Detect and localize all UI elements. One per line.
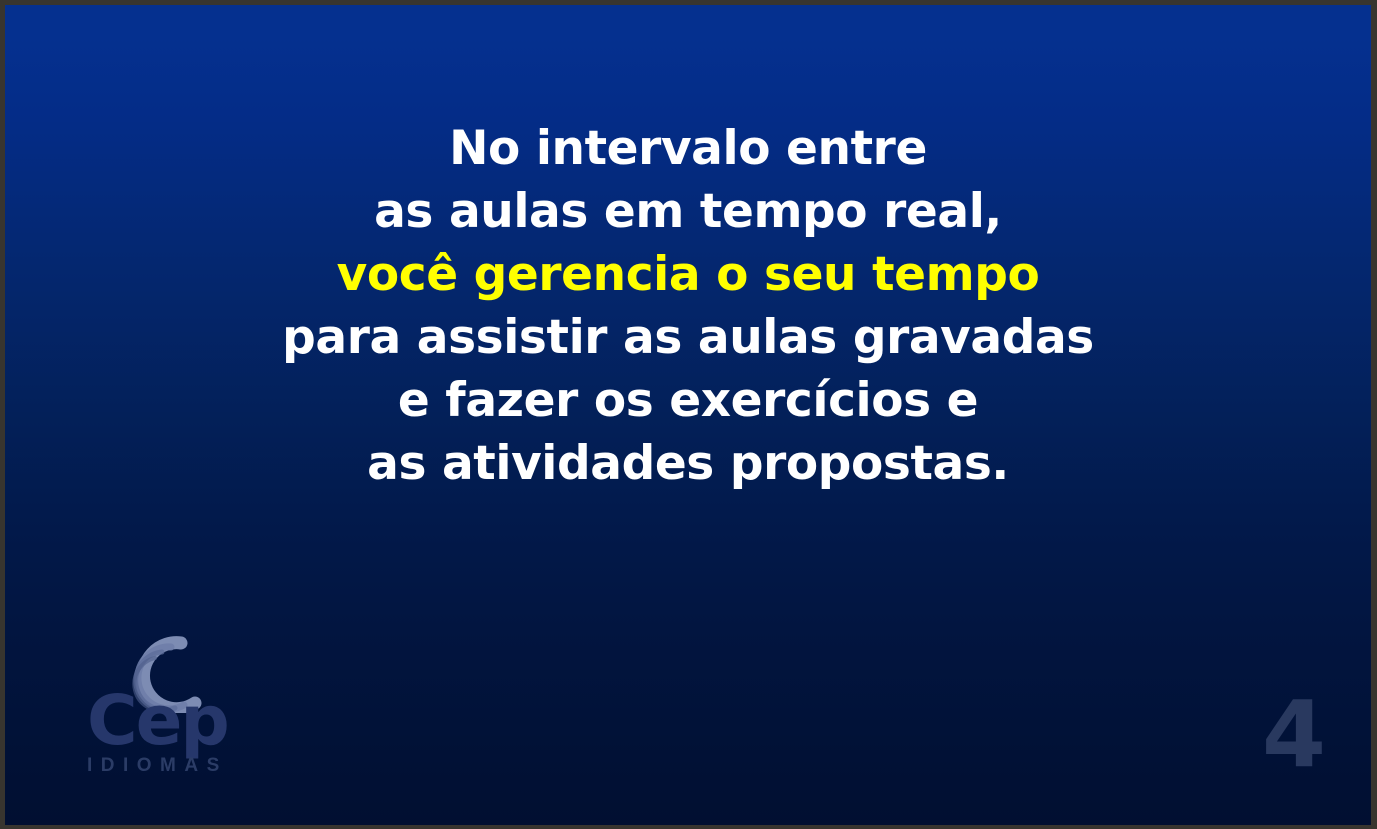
message-line-4: para assistir as aulas gravadas: [5, 306, 1371, 369]
logo-wordmark: Cep: [83, 685, 263, 757]
message-line-2: as aulas em tempo real,: [5, 180, 1371, 243]
message-line-5: e fazer os exercícios e: [5, 369, 1371, 432]
brand-logo: Cep IDIOMAS: [83, 633, 263, 783]
message-line-6: as atividades propostas.: [5, 432, 1371, 495]
slide-message: No intervalo entre as aulas em tempo rea…: [5, 117, 1371, 495]
message-line-3-highlight: você gerencia o seu tempo: [5, 243, 1371, 306]
page-number: 4: [1262, 689, 1325, 781]
slide-canvas: No intervalo entre as aulas em tempo rea…: [5, 5, 1371, 825]
message-line-1: No intervalo entre: [5, 117, 1371, 180]
slide-frame: No intervalo entre as aulas em tempo rea…: [0, 0, 1377, 829]
logo-subword: IDIOMAS: [83, 755, 263, 777]
